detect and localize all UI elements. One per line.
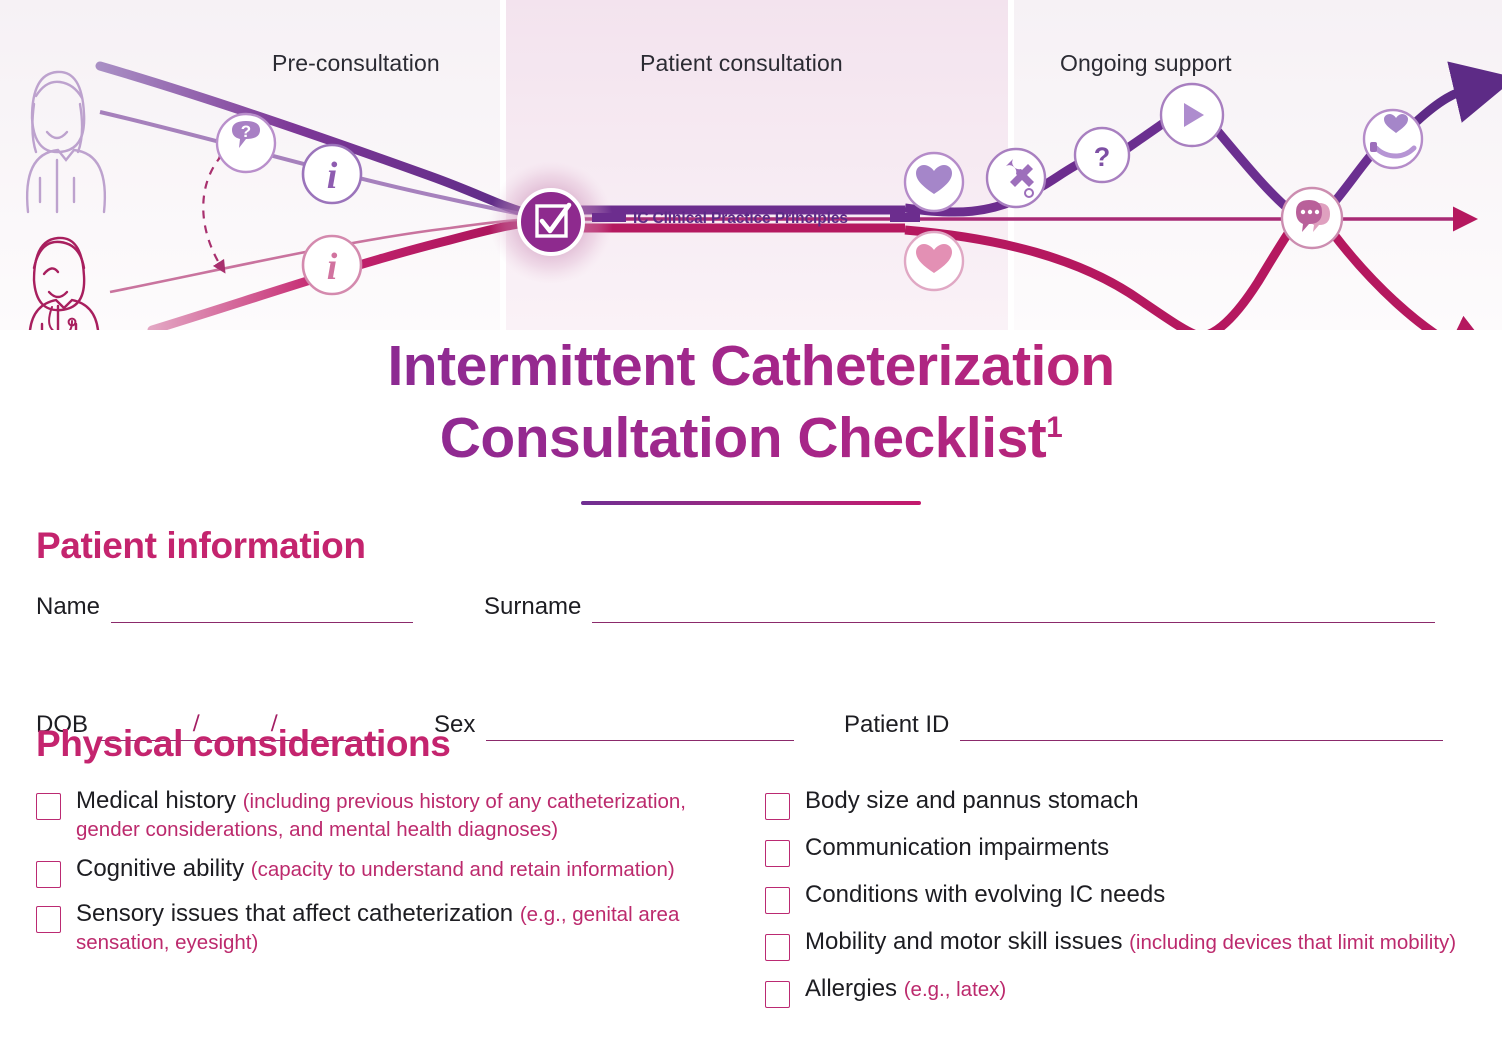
- checklist-item-label: Body size and pannus stomach: [805, 787, 1139, 814]
- title-block: Intermittent CatheterizationConsultation…: [0, 330, 1502, 505]
- checklist-item[interactable]: Communication impairments: [765, 834, 1476, 867]
- tools-icon: [987, 149, 1045, 207]
- checklist-item-text: Medical history (including previous hist…: [76, 787, 747, 843]
- page-title-line1: Intermittent Catheterization: [387, 334, 1114, 398]
- name-input[interactable]: [111, 595, 413, 623]
- question-speech-bubble-icon: ?: [217, 114, 275, 172]
- checklist-item-note: (including devices that limit mobility): [1129, 931, 1456, 954]
- checklist-item[interactable]: Medical history (including previous hist…: [36, 787, 747, 843]
- checkbox-evolving-ic-needs[interactable]: [765, 887, 790, 914]
- checklist-item-label: Mobility and motor skill issues: [805, 928, 1122, 955]
- footnote-marker: 1: [1046, 411, 1062, 444]
- info-circle-icon: i: [303, 145, 361, 203]
- page-title-line2: Consultation Checklist: [440, 406, 1047, 470]
- principles-connector-left: [592, 213, 626, 222]
- heart-icon: [905, 232, 963, 290]
- question-mark-icon: ?: [1075, 128, 1129, 182]
- checklist-columns: Medical history (including previous hist…: [36, 787, 1476, 1022]
- checkbox-mobility-motor-skills[interactable]: [765, 934, 790, 961]
- svg-text:?: ?: [1094, 142, 1111, 172]
- checklist-item-label: Allergies: [805, 975, 897, 1002]
- speech-bubbles-icon: [1282, 188, 1342, 248]
- checkbox-medical-history[interactable]: [36, 793, 61, 820]
- title-divider: [581, 501, 921, 505]
- checklist-item-note: (capacity to understand and retain infor…: [251, 858, 675, 881]
- checklist-item[interactable]: Sensory issues that affect catheterizati…: [36, 900, 747, 956]
- checklist-item-label: Sensory issues that affect catheterizati…: [76, 900, 513, 927]
- play-icon: [1161, 84, 1223, 146]
- checkbox-communication-impairments[interactable]: [765, 840, 790, 867]
- checkbox-sensory-issues[interactable]: [36, 906, 61, 933]
- checklist-item[interactable]: Body size and pannus stomach: [765, 787, 1476, 820]
- hand-heart-icon: [1364, 110, 1422, 168]
- checklist-item[interactable]: Conditions with evolving IC needs: [765, 881, 1476, 914]
- patient-information-heading: Patient information: [36, 525, 1476, 567]
- checklist-item-label: Communication impairments: [805, 834, 1109, 861]
- checklist-item-note: (e.g., latex): [904, 978, 1007, 1001]
- checkbox-cognitive-ability[interactable]: [36, 861, 61, 888]
- checklist-item[interactable]: Allergies (e.g., latex): [765, 975, 1476, 1008]
- checklist-column-left: Medical history (including previous hist…: [36, 787, 747, 1022]
- name-field-group: Name: [36, 593, 413, 623]
- svg-text:i: i: [327, 246, 338, 288]
- journey-graphic: ? i i: [0, 0, 1502, 330]
- surname-input[interactable]: [592, 595, 1435, 623]
- checklist-item-text: Cognitive ability (capacity to understan…: [76, 855, 675, 883]
- stage-label-ongoing-support: Ongoing support: [1060, 50, 1232, 77]
- patient-information-section: Patient information Name Surname DOB / /…: [36, 525, 1476, 697]
- patient-info-row-2: DOB / / Sex Patient ID: [36, 641, 1476, 697]
- checklist-item[interactable]: Cognitive ability (capacity to understan…: [36, 855, 747, 888]
- surname-field-group: Surname: [484, 593, 1435, 623]
- checklist-item-label: Medical history: [76, 787, 236, 814]
- stage-label-pre-consultation: Pre-consultation: [272, 50, 440, 77]
- checklist-item-text: Communication impairments: [805, 834, 1109, 862]
- checkbox-allergies[interactable]: [765, 981, 790, 1008]
- stage-label-patient-consultation: Patient consultation: [640, 50, 843, 77]
- checklist-item-label: Cognitive ability: [76, 855, 244, 882]
- svg-text:i: i: [327, 155, 338, 197]
- name-label: Name: [36, 593, 100, 623]
- checklist-item-text: Mobility and motor skill issues (includi…: [805, 928, 1456, 956]
- ic-clinical-practice-principles-label: IC Clinical Practice Principles: [633, 210, 848, 228]
- svg-text:?: ?: [241, 122, 251, 141]
- checklist-item-label: Conditions with evolving IC needs: [805, 881, 1165, 908]
- info-circle-icon: i: [303, 236, 361, 294]
- checklist-item-text: Body size and pannus stomach: [805, 787, 1139, 815]
- checkbox-body-size[interactable]: [765, 793, 790, 820]
- principles-connector-right: [890, 213, 920, 222]
- physical-considerations-section: Physical considerations Medical history …: [36, 723, 1476, 1022]
- checklist-item-text: Sensory issues that affect catheterizati…: [76, 900, 747, 956]
- page-title: Intermittent CatheterizationConsultation…: [0, 330, 1502, 475]
- checklist-item-text: Allergies (e.g., latex): [805, 975, 1006, 1003]
- checklist-item[interactable]: Mobility and motor skill issues (includi…: [765, 928, 1476, 961]
- physical-considerations-heading: Physical considerations: [36, 723, 1476, 765]
- patient-info-row-1: Name Surname: [36, 585, 1476, 641]
- checklist-column-right: Body size and pannus stomach Communicati…: [747, 787, 1476, 1022]
- surname-label: Surname: [484, 593, 581, 623]
- checklist-item-text: Conditions with evolving IC needs: [805, 881, 1165, 909]
- heart-icon: [905, 153, 963, 211]
- checklist-check-icon: [519, 190, 583, 254]
